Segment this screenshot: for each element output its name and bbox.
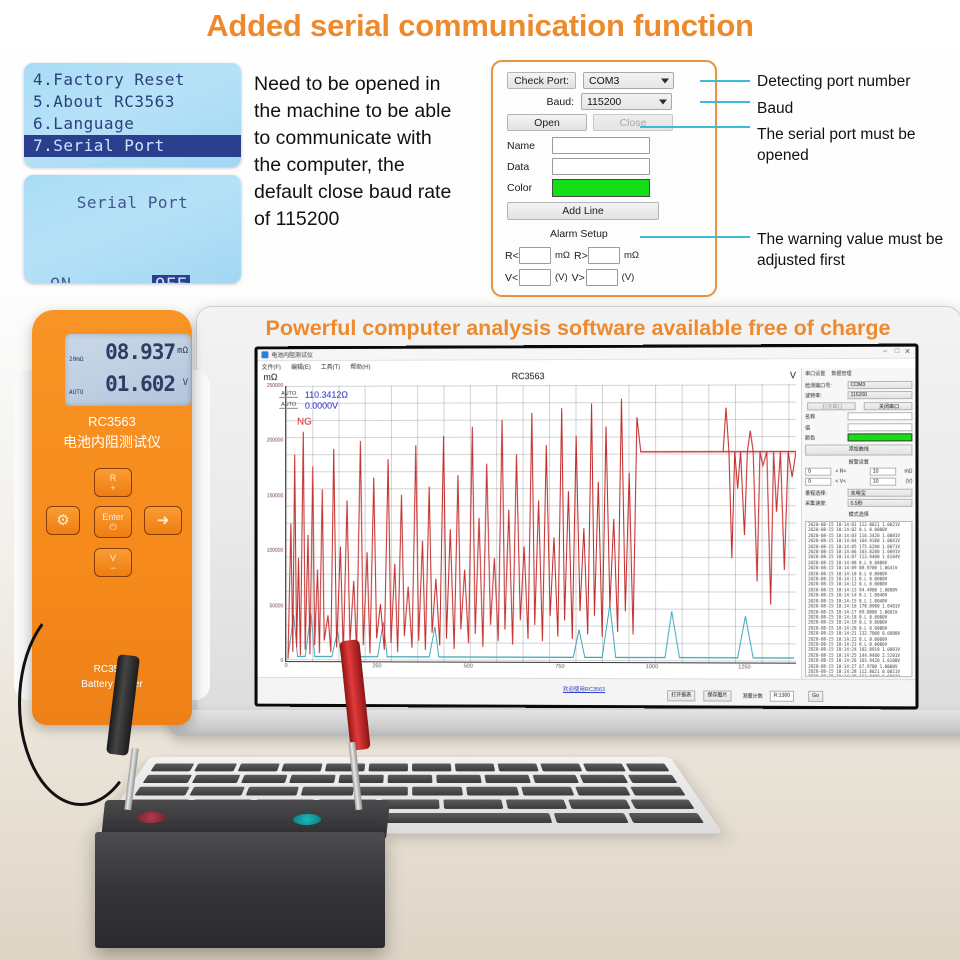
name-label: Name [507, 140, 552, 152]
arrow-right-icon: ➜ [157, 516, 170, 526]
r-more-input[interactable] [588, 247, 620, 264]
baud-label: Baud: [529, 96, 574, 108]
save-image-button[interactable]: 保存图片 [703, 690, 731, 701]
lcd-serial-on-option[interactable]: ON [50, 275, 71, 283]
color-label: Color [507, 182, 552, 194]
side-port-label: 检测端口号: [805, 382, 832, 389]
side-mode-heading: 模式选择 [802, 511, 915, 518]
callout-line-alarm [640, 236, 750, 238]
check-port-value: COM3 [589, 75, 619, 87]
side-add-line-button[interactable]: 添加曲线 [805, 444, 912, 455]
side-name-input[interactable] [848, 412, 913, 420]
side-openclose-row: 打开串口 关闭串口 [805, 402, 912, 411]
chart-xtick: 1250 [738, 664, 750, 670]
v-less-unit: (V) [555, 272, 568, 283]
page-title: Added serial communication function [0, 8, 960, 44]
r-more-unit: mΩ [624, 250, 639, 261]
meter-voltage-value: 01.602 [105, 372, 175, 396]
log-row[interactable]: 2020-08-15 10:14:09 88.9700 1.0641V [806, 565, 911, 571]
check-port-button[interactable]: Check Port: [507, 72, 576, 89]
battery-negative-terminal [137, 812, 166, 823]
side-speed-row: 采集速度: 0.5秒 [805, 499, 912, 508]
chart-traces [286, 384, 796, 662]
side-speed-label: 采集速度: [805, 500, 827, 507]
lcd-serial-heading: Serial Port [24, 193, 241, 212]
check-port-select[interactable]: COM3 [583, 72, 674, 89]
callout-detecting-port: Detecting port number [757, 71, 957, 92]
side-data-row: 值 [805, 423, 912, 432]
meter-voltage-unit: V [183, 378, 188, 388]
gear-icon: ⚙ [56, 516, 69, 526]
callout-line-open [640, 126, 750, 128]
callout-baud: Baud [757, 98, 957, 119]
chart-xtick: 1000 [646, 664, 658, 670]
data-input[interactable] [552, 158, 650, 175]
meter-range-tag: 20mΩ [69, 356, 83, 363]
r-less-unit: mΩ [555, 250, 570, 261]
battery-positive-terminal [292, 814, 321, 825]
laptop: Powerful computer analysis software avai… [196, 306, 960, 726]
maximize-button[interactable]: □ [895, 348, 899, 355]
chart-panel: mΩ RC3563 V 250000 200000 150000 1000 [258, 368, 802, 680]
chevron-down-icon [659, 99, 667, 104]
chart-ytick: 50000 [269, 603, 283, 609]
v-more-input[interactable] [586, 269, 618, 286]
key-enter-label: Enter [102, 512, 124, 522]
meter-resistance-value: 08.937 [105, 340, 175, 364]
side-color-swatch[interactable] [848, 433, 913, 441]
chart-ytick: 250000 [267, 383, 283, 389]
side-alarm-heading: 报警设置 [802, 458, 915, 465]
side-color-label: 颜色 [805, 435, 815, 442]
meter-resistance-unit: mΩ [177, 346, 188, 356]
power-icon: ⏻ [109, 522, 116, 532]
side-baud-label: 波特率: [805, 392, 822, 399]
v-less-input[interactable] [519, 269, 551, 286]
key-arrow-right[interactable]: ➜ [144, 506, 182, 535]
log-row[interactable]: 2020-08-15 10:14:21 132.7000 0.6000V [806, 631, 911, 637]
keyboard-row [150, 763, 669, 771]
side-alarm-v-sep: < V< [835, 479, 846, 485]
side-alarm-r-row: 0 < R< 10 mΩ [805, 467, 912, 476]
close-port-button[interactable]: Close [593, 114, 673, 131]
app-icon [262, 351, 269, 358]
side-range-select[interactable]: 充电宝 [848, 488, 913, 496]
chart-ytick: 0 [280, 658, 283, 664]
v-more-label: V> [572, 272, 586, 284]
key-voltage-down[interactable]: V − [94, 548, 132, 577]
side-data-input[interactable] [848, 423, 913, 431]
side-data-label: 值 [805, 424, 810, 431]
key-resistance-up[interactable]: R + [94, 468, 132, 497]
lcd-menu-item-language[interactable]: 6.Language [24, 113, 241, 135]
probe-cable-black [18, 600, 144, 806]
side-alarm-v-row: 0 < V< 10 (V) [805, 478, 912, 487]
side-baud-select[interactable]: 115200 [848, 391, 913, 399]
key-v-label: V [110, 553, 116, 563]
readout-voltage: 0.0000V [305, 401, 348, 412]
side-port-row: 检测端口号: COM3 [805, 380, 912, 389]
add-line-button[interactable]: Add Line [507, 202, 659, 220]
key-plus-label: + [110, 483, 115, 493]
chart-unit-label: mΩ [263, 372, 277, 382]
lcd-menu-item-about[interactable]: 5.About RC3563 [24, 91, 241, 113]
readout-resistance: 110.3412Ω [305, 390, 348, 401]
side-name-row: 名称 [805, 412, 912, 421]
log-row[interactable]: 2020-08-15 10:14:29 163.8400 0.0001V [806, 674, 911, 677]
test-battery [95, 800, 395, 948]
key-enter-power[interactable]: Enter ⏻ [94, 506, 132, 538]
lcd-serial-off-option[interactable]: OFF [152, 275, 190, 283]
lcd-menu-item-factory-reset[interactable]: 4.Factory Reset [24, 69, 241, 91]
keyboard-row [143, 775, 678, 783]
side-alarm-v-low[interactable]: 0 [805, 478, 831, 486]
side-color-row: 颜色 [805, 433, 912, 442]
alarm-setup-label: Alarm Setup [550, 228, 608, 240]
log-row[interactable]: 2020-08-15 10:14:16 178.8900 1.0401V [806, 603, 911, 609]
chevron-down-icon [661, 78, 669, 83]
baud-select[interactable]: 115200 [581, 93, 672, 110]
side-speed-select[interactable]: 0.5秒 [848, 499, 913, 507]
chart-xtick: 500 [464, 664, 473, 670]
auto-tag-voltage: AUTO [279, 402, 298, 409]
chart-xtick: 750 [555, 664, 564, 670]
chart-title: RC3563 [512, 371, 545, 381]
battery-front-face [95, 832, 385, 948]
v-more-unit: (V) [622, 272, 635, 283]
key-minus-label: − [110, 563, 115, 573]
side-range-label: 量程选择: [805, 489, 827, 496]
open-port-button[interactable]: Open [507, 114, 587, 131]
side-close-button[interactable]: 关闭串口 [864, 402, 913, 410]
chart-xtick: 250 [372, 663, 381, 669]
meter-chinese-label: 电池内阻测试仪 [32, 432, 192, 452]
callout-serial-open: The serial port must be opened [757, 124, 947, 166]
side-name-label: 名称 [805, 413, 815, 420]
log-row[interactable]: 2020-08-15 10:14:26 103.9420 1.0100V [806, 658, 911, 664]
r-less-label: R< [505, 250, 519, 262]
device-lcd-menu: 4.Factory Reset 5.About RC3563 6.Languag… [24, 63, 241, 167]
key-settings[interactable]: ⚙ [46, 506, 80, 535]
website-link[interactable]: 欢迎使用RC3563 [563, 685, 605, 693]
keyboard-row [134, 787, 685, 796]
serial-settings-dialog: Check Port: COM3 Baud: 115200 Open Close… [491, 60, 717, 297]
callout-line-port [700, 80, 750, 82]
open-report-button[interactable]: 打开报表 [667, 690, 695, 701]
laptop-base [170, 710, 960, 736]
meter-auto-tag: AUTO [69, 389, 83, 396]
tab-data-management[interactable]: 数据管理 [831, 370, 851, 377]
log-row[interactable]: 2020-08-15 10:14:04 104.9100 1.0041V [806, 538, 911, 543]
side-open-button[interactable]: 打开串口 [807, 402, 856, 410]
name-input[interactable] [552, 137, 650, 154]
side-alarm-r-high[interactable]: 10 [870, 467, 896, 475]
r-less-input[interactable] [519, 247, 551, 264]
laptop-banner-text: Powerful computer analysis software avai… [196, 316, 960, 341]
range-value-input[interactable]: R:1300 [770, 691, 794, 702]
meter-lcd-display: 20mΩ AUTO 08.937 mΩ 01.602 V [65, 334, 191, 406]
v-less-label: V< [505, 272, 519, 284]
instruction-paragraph: Need to be opened in the machine to be a… [254, 71, 464, 233]
go-button[interactable]: Go [808, 691, 823, 702]
chart-ytick: 150000 [267, 493, 283, 499]
key-r-label: R [110, 473, 117, 483]
side-range-row: 量程选择: 充电宝 [805, 488, 912, 497]
side-alarm-r-unit: mΩ [904, 468, 912, 474]
status-badge-ng: NG [297, 417, 312, 428]
chart-voltage-unit-label: V [790, 370, 796, 380]
side-port-select[interactable]: COM3 [848, 380, 913, 388]
callout-warning-value: The warning value must be adjusted first [757, 229, 952, 271]
chart-ytick: 100000 [267, 548, 283, 554]
side-alarm-r-low[interactable]: 0 [805, 467, 831, 475]
side-alarm-v-unit: (V) [906, 479, 913, 485]
serial-side-panel: 串口设置 数据管理 检测端口号: COM3 波特率: 115200 打开串口 关… [801, 368, 915, 680]
r-more-label: R> [574, 250, 588, 262]
color-swatch[interactable] [552, 179, 650, 197]
close-button[interactable]: ✕ [904, 348, 910, 356]
app-window-title: 电池内阻测试仪 [271, 350, 312, 359]
baud-value: 115200 [587, 96, 621, 108]
data-label: Data [507, 161, 552, 173]
chart-ytick: 200000 [267, 438, 283, 444]
device-lcd-serial-port: Serial Port ON OFF [24, 175, 241, 283]
tab-serial-settings[interactable]: 串口设置 [805, 370, 825, 377]
meter-model-label: RC3563 [32, 414, 192, 429]
chart-plot-area[interactable]: 250000 200000 150000 100000 50000 0 0 25… [285, 384, 796, 663]
minimize-button[interactable]: – [883, 348, 887, 355]
side-alarm-v-high[interactable]: 10 [870, 478, 896, 486]
lcd-menu-item-serial-port[interactable]: 7.Serial Port [24, 135, 241, 157]
measurement-log-list[interactable]: 2020-08-15 10:14:01 112.0021 1.0021V2020… [805, 521, 912, 677]
side-baud-row: 波特率: 115200 [805, 391, 912, 400]
callout-line-baud [700, 101, 750, 103]
side-alarm-r-sep: < R< [835, 468, 846, 474]
chart-xtick: 0 [285, 663, 288, 669]
measure-count-label: 测量计数 [740, 693, 766, 702]
chart-readout: 110.3412Ω 0.0000V [305, 390, 348, 412]
auto-tag-resistance: AUTO [279, 391, 298, 398]
